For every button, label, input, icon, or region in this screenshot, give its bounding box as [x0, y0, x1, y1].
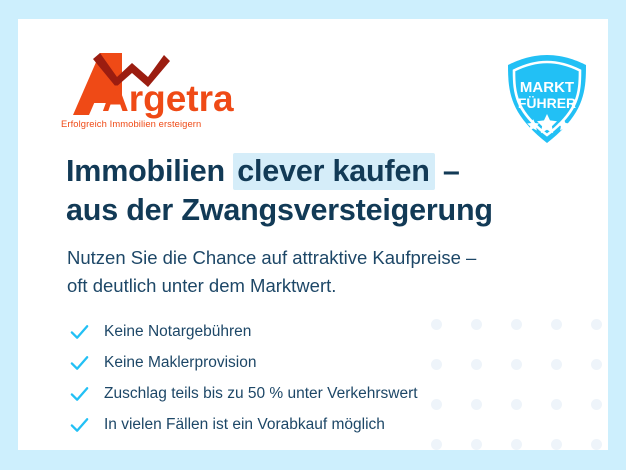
subtitle-line2: oft deutlich unter dem Marktwert. [67, 272, 567, 300]
decorative-dot [591, 359, 602, 370]
benefits-list: Keine NotargebührenKeine Maklerprovision… [68, 316, 538, 440]
decorative-dot [471, 439, 482, 450]
decorative-dot [591, 399, 602, 410]
subtitle-line1: Nutzen Sie die Chance auf attraktive Kau… [67, 244, 567, 272]
list-item: Keine Maklerprovision [68, 347, 538, 378]
benefit-label: Zuschlag teils bis zu 50 % unter Verkehr… [104, 385, 418, 403]
badge-line1: MARKT [520, 79, 574, 96]
headline: Immobilien clever kaufen – aus der Zwang… [66, 152, 566, 229]
headline-highlight: clever kaufen [233, 153, 434, 190]
logo-tagline: Erfolgreich Immobilien ersteigern [61, 118, 201, 129]
shield-icon: MARKT FÜHRER [500, 52, 594, 146]
check-icon [68, 413, 91, 436]
list-item: In vielen Fällen ist ein Vorabkauf mögli… [68, 409, 538, 440]
argetra-logo[interactable]: Argetra Erfolgreich Immobilien ersteiger… [60, 47, 240, 133]
decorative-dot [591, 319, 602, 330]
list-item: Keine Notargebühren [68, 316, 538, 347]
logo-wordmark: Argetra [102, 78, 234, 119]
decorative-dot [511, 439, 522, 450]
benefit-label: In vielen Fällen ist ein Vorabkauf mögli… [104, 416, 385, 434]
check-icon [68, 382, 91, 405]
decorative-dot [551, 439, 562, 450]
headline-post: – [435, 154, 460, 188]
banner-frame: Argetra Erfolgreich Immobilien ersteiger… [0, 0, 626, 470]
headline-line1: Immobilien clever kaufen – [66, 153, 460, 190]
decorative-dot [551, 359, 562, 370]
list-item: Zuschlag teils bis zu 50 % unter Verkehr… [68, 378, 538, 409]
decorative-dot [431, 439, 442, 450]
benefit-label: Keine Notargebühren [104, 323, 251, 341]
banner-card: Argetra Erfolgreich Immobilien ersteiger… [18, 19, 608, 450]
check-icon [68, 351, 91, 374]
decorative-dot [551, 399, 562, 410]
headline-pre: Immobilien [66, 154, 233, 188]
check-icon [68, 320, 91, 343]
benefit-label: Keine Maklerprovision [104, 354, 257, 372]
decorative-dot [551, 319, 562, 330]
decorative-dot [591, 439, 602, 450]
headline-line2: aus der Zwangsversteigerung [66, 191, 566, 229]
argetra-logo-mark: Argetra Erfolgreich Immobilien ersteiger… [60, 47, 240, 133]
markt-fuehrer-badge: MARKT FÜHRER [500, 52, 594, 146]
badge-line2: FÜHRER [518, 95, 576, 111]
subtitle: Nutzen Sie die Chance auf attraktive Kau… [67, 244, 567, 300]
